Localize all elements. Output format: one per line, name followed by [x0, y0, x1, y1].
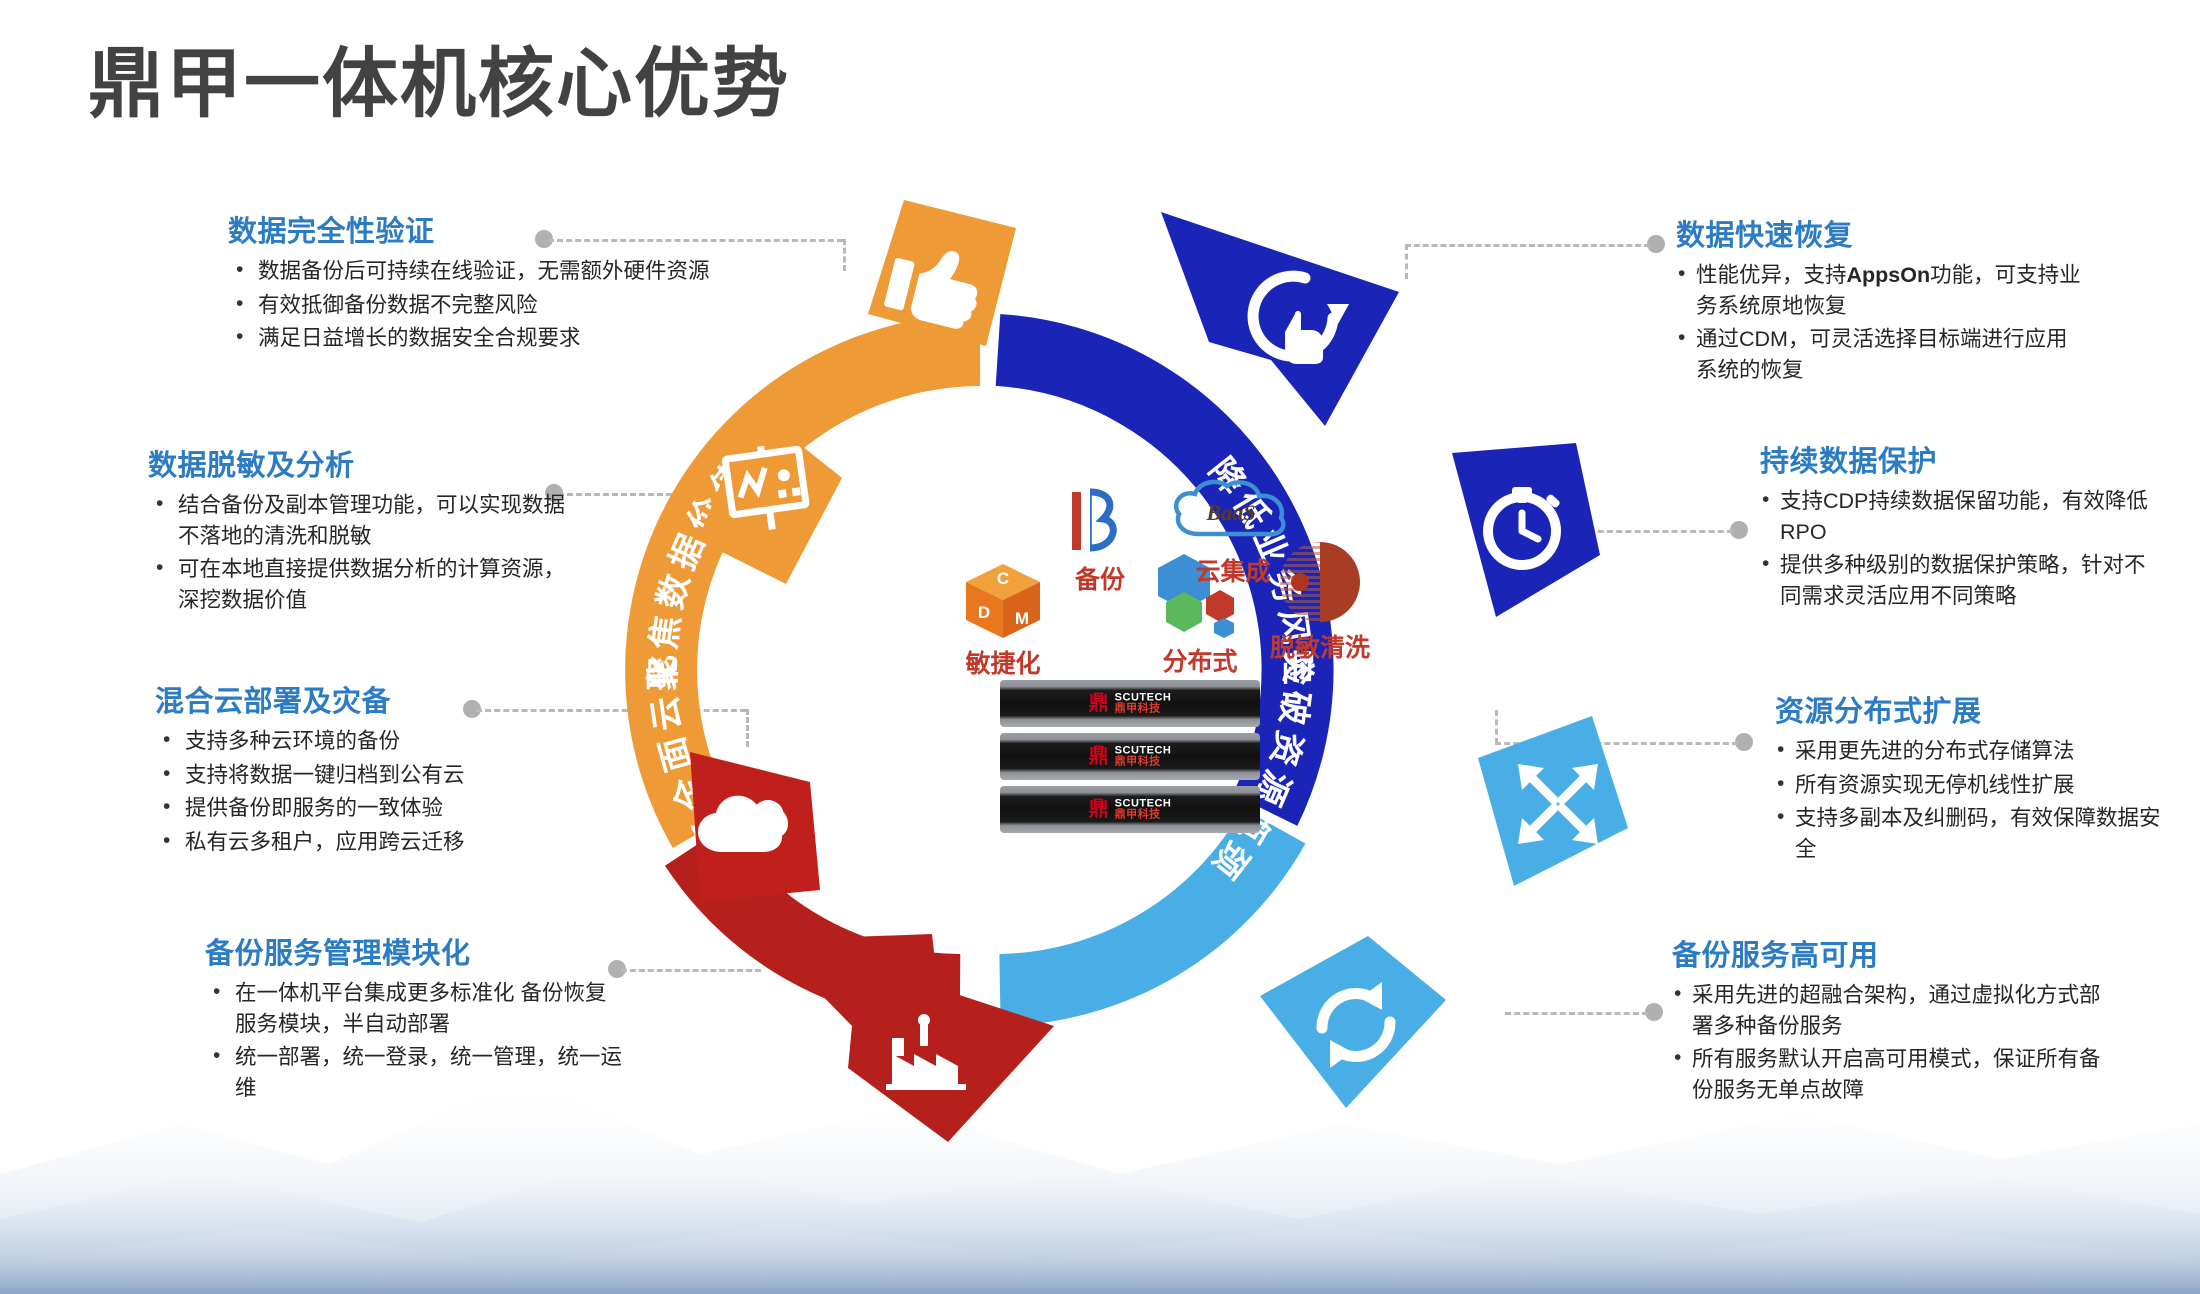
list-item: 结合备份及副本管理功能，可以实现数据不落地的清洗和脱敏 — [148, 490, 568, 551]
block-continuous-data-protection: 持续数据保护 支持CDP持续数据保留功能，有效降低RPO 提供多种级别的数据保护… — [1760, 438, 2160, 614]
svg-text:D: D — [978, 603, 990, 622]
server-unit: 鼎 SCUTECH 鼎甲科技 — [1000, 786, 1260, 833]
svg-text:C: C — [997, 569, 1009, 588]
page-title: 鼎甲一体机核心优势 — [88, 22, 790, 132]
center-tech-caption: 备份 — [1045, 560, 1155, 596]
server-brand-names: SCUTECH 鼎甲科技 — [1115, 798, 1172, 821]
petal-shape — [1260, 936, 1446, 1108]
list-item: 采用先进的超融合架构，通过虚拟化方式部署多种备份服务 — [1672, 980, 2102, 1041]
server-brand-en: SCUTECH — [1115, 798, 1172, 810]
list-item: 采用更先进的分布式存储算法 — [1775, 736, 2175, 767]
block-distributed-resource-scaling: 资源分布式扩展 采用更先进的分布式存储算法 所有资源实现无停机线性扩展 支持多副… — [1775, 688, 2175, 867]
server-brand-en: SCUTECH — [1115, 745, 1172, 757]
server-brand-en: SCUTECH — [1115, 692, 1172, 704]
center-tech-db-backup: 备份 — [1045, 488, 1155, 596]
petal-shape — [698, 406, 842, 584]
list-item: 提供备份即服务的一致体验 — [155, 793, 575, 824]
block-title: 数据快速恢复 — [1676, 212, 2086, 254]
block-title: 混合云部署及灾备 — [155, 678, 575, 720]
list-item: 性能优异，支持AppsOn功能，可支持业务系统原地恢复 — [1676, 260, 2086, 321]
block-bullet-list: 结合备份及副本管理功能，可以实现数据不落地的清洗和脱敏 可在本地直接提供数据分析… — [148, 490, 568, 615]
block-hybrid-cloud-deployment: 混合云部署及灾备 支持多种云环境的备份 支持将数据一键归档到公有云 提供备份即服… — [155, 678, 575, 860]
server-unit: 鼎 SCUTECH 鼎甲科技 — [1000, 680, 1260, 727]
center-tech-cdm: C D M 敏捷化 — [948, 560, 1058, 680]
scutech-logo-icon: 鼎 — [1089, 747, 1109, 767]
block-fast-data-recovery: 数据快速恢复 性能优异，支持AppsOn功能，可支持业务系统原地恢复 通过CDM… — [1676, 212, 2086, 388]
list-item: 支持多副本及纠删码，有效保障数据安全 — [1775, 803, 2175, 864]
server-brand-cn: 鼎甲科技 — [1115, 810, 1172, 822]
block-bullet-list: 支持多种云环境的备份 支持将数据一键归档到公有云 提供备份即服务的一致体验 私有… — [155, 726, 575, 857]
server-brand: 鼎 SCUTECH 鼎甲科技 — [1089, 798, 1172, 821]
block-bullet-list: 支持CDP持续数据保留功能，有效降低RPO 提供多种级别的数据保护策略，针对不同… — [1760, 486, 2160, 611]
server-brand-cn: 鼎甲科技 — [1115, 757, 1172, 769]
block-title: 备份服务高可用 — [1672, 932, 2102, 974]
petal-cloud[interactable] — [660, 742, 845, 922]
list-item: 私有云多租户，应用跨云迁移 — [155, 827, 575, 858]
center-tech-caption: 分布式 — [1142, 642, 1258, 678]
scutech-logo-icon: 鼎 — [1089, 694, 1109, 714]
server-brand-names: SCUTECH 鼎甲科技 — [1115, 745, 1172, 768]
list-item: 支持CDP持续数据保留功能，有效降低RPO — [1760, 486, 2160, 547]
list-item: 提供多种级别的数据保护策略，针对不同需求灵活应用不同策略 — [1760, 550, 2160, 611]
petal-factory-arrow[interactable] — [762, 930, 1062, 1160]
server-unit: 鼎 SCUTECH 鼎甲科技 — [1000, 733, 1260, 780]
block-bullet-list: 采用先进的超融合架构，通过虚拟化方式部署多种备份服务 所有服务默认开启高可用模式… — [1672, 980, 2102, 1105]
list-item: 支持将数据一键归档到公有云 — [155, 760, 575, 791]
petal-shape — [1161, 212, 1399, 426]
list-item: 通过CDM，可灵活选择目标端进行应用系统的恢复 — [1676, 324, 2086, 385]
center-tech-data-masking: 脱敏清洗 — [1255, 540, 1385, 664]
center-tech-caption: 敏捷化 — [948, 644, 1058, 680]
scutech-logo-icon: 鼎 — [1089, 800, 1109, 820]
petal-expand-arrows[interactable] — [1460, 710, 1640, 900]
server-stack: 鼎 SCUTECH 鼎甲科技 鼎 SCUTECH 鼎甲科技 鼎 — [1000, 680, 1260, 839]
list-item: 可在本地直接提供数据分析的计算资源，深挖数据价值 — [148, 554, 568, 615]
petal-sync-refresh[interactable] — [1250, 930, 1460, 1120]
block-bullet-list: 采用更先进的分布式存储算法 所有资源实现无停机线性扩展 支持多副本及纠删码，有效… — [1775, 736, 2175, 864]
list-item: 所有资源实现无停机线性扩展 — [1775, 770, 2175, 801]
cdm-cube-icon: C D M — [960, 560, 1046, 642]
svg-text:M: M — [1015, 609, 1029, 628]
block-title: 资源分布式扩展 — [1775, 688, 2175, 730]
connector-line-right-4 — [1505, 1012, 1648, 1015]
petal-stopwatch[interactable] — [1430, 435, 1610, 625]
bullet-text-part: 性能优异，支持AppsOn功能，可支持业务系统原地恢复 — [1696, 263, 2081, 318]
petal-thumbs-up[interactable] — [846, 188, 1026, 368]
block-data-masking-analysis: 数据脱敏及分析 结合备份及副本管理功能，可以实现数据不落地的清洗和脱敏 可在本地… — [148, 442, 568, 618]
petal-shape — [768, 934, 1054, 1142]
server-brand-names: SCUTECH 鼎甲科技 — [1115, 692, 1172, 715]
connector-line-right-1 — [1405, 244, 1650, 247]
list-item: 所有服务默认开启高可用模式，保证所有备份服务无单点故障 — [1672, 1044, 2102, 1105]
block-title: 持续数据保护 — [1760, 438, 2160, 480]
server-brand-cn: 鼎甲科技 — [1115, 704, 1172, 716]
block-backup-service-high-availability: 备份服务高可用 采用先进的超融合架构，通过虚拟化方式部署多种备份服务 所有服务默… — [1672, 932, 2102, 1108]
server-brand: 鼎 SCUTECH 鼎甲科技 — [1089, 745, 1172, 768]
block-bullet-list: 性能优异，支持AppsOn功能，可支持业务系统原地恢复 通过CDM，可灵活选择目… — [1676, 260, 2086, 385]
block-title: 数据脱敏及分析 — [148, 442, 568, 484]
block-title: 数据完全性验证 — [228, 208, 768, 250]
masking-dome-icon — [1274, 540, 1366, 626]
db-logo-icon — [1060, 488, 1140, 566]
baas-text: BaaS — [1206, 500, 1256, 525]
petal-chart-board[interactable] — [690, 400, 860, 590]
infographic-canvas: 鼎甲一体机核心优势 数据完全性验证 数据备份后可持续在线验证，无需额外硬件资源 … — [0, 0, 2200, 1294]
list-item: 支持多种云环境的备份 — [155, 726, 575, 757]
center-tech-caption: 脱敏清洗 — [1255, 628, 1385, 664]
server-brand: 鼎 SCUTECH 鼎甲科技 — [1089, 692, 1172, 715]
petal-restore-click[interactable] — [1155, 200, 1415, 430]
